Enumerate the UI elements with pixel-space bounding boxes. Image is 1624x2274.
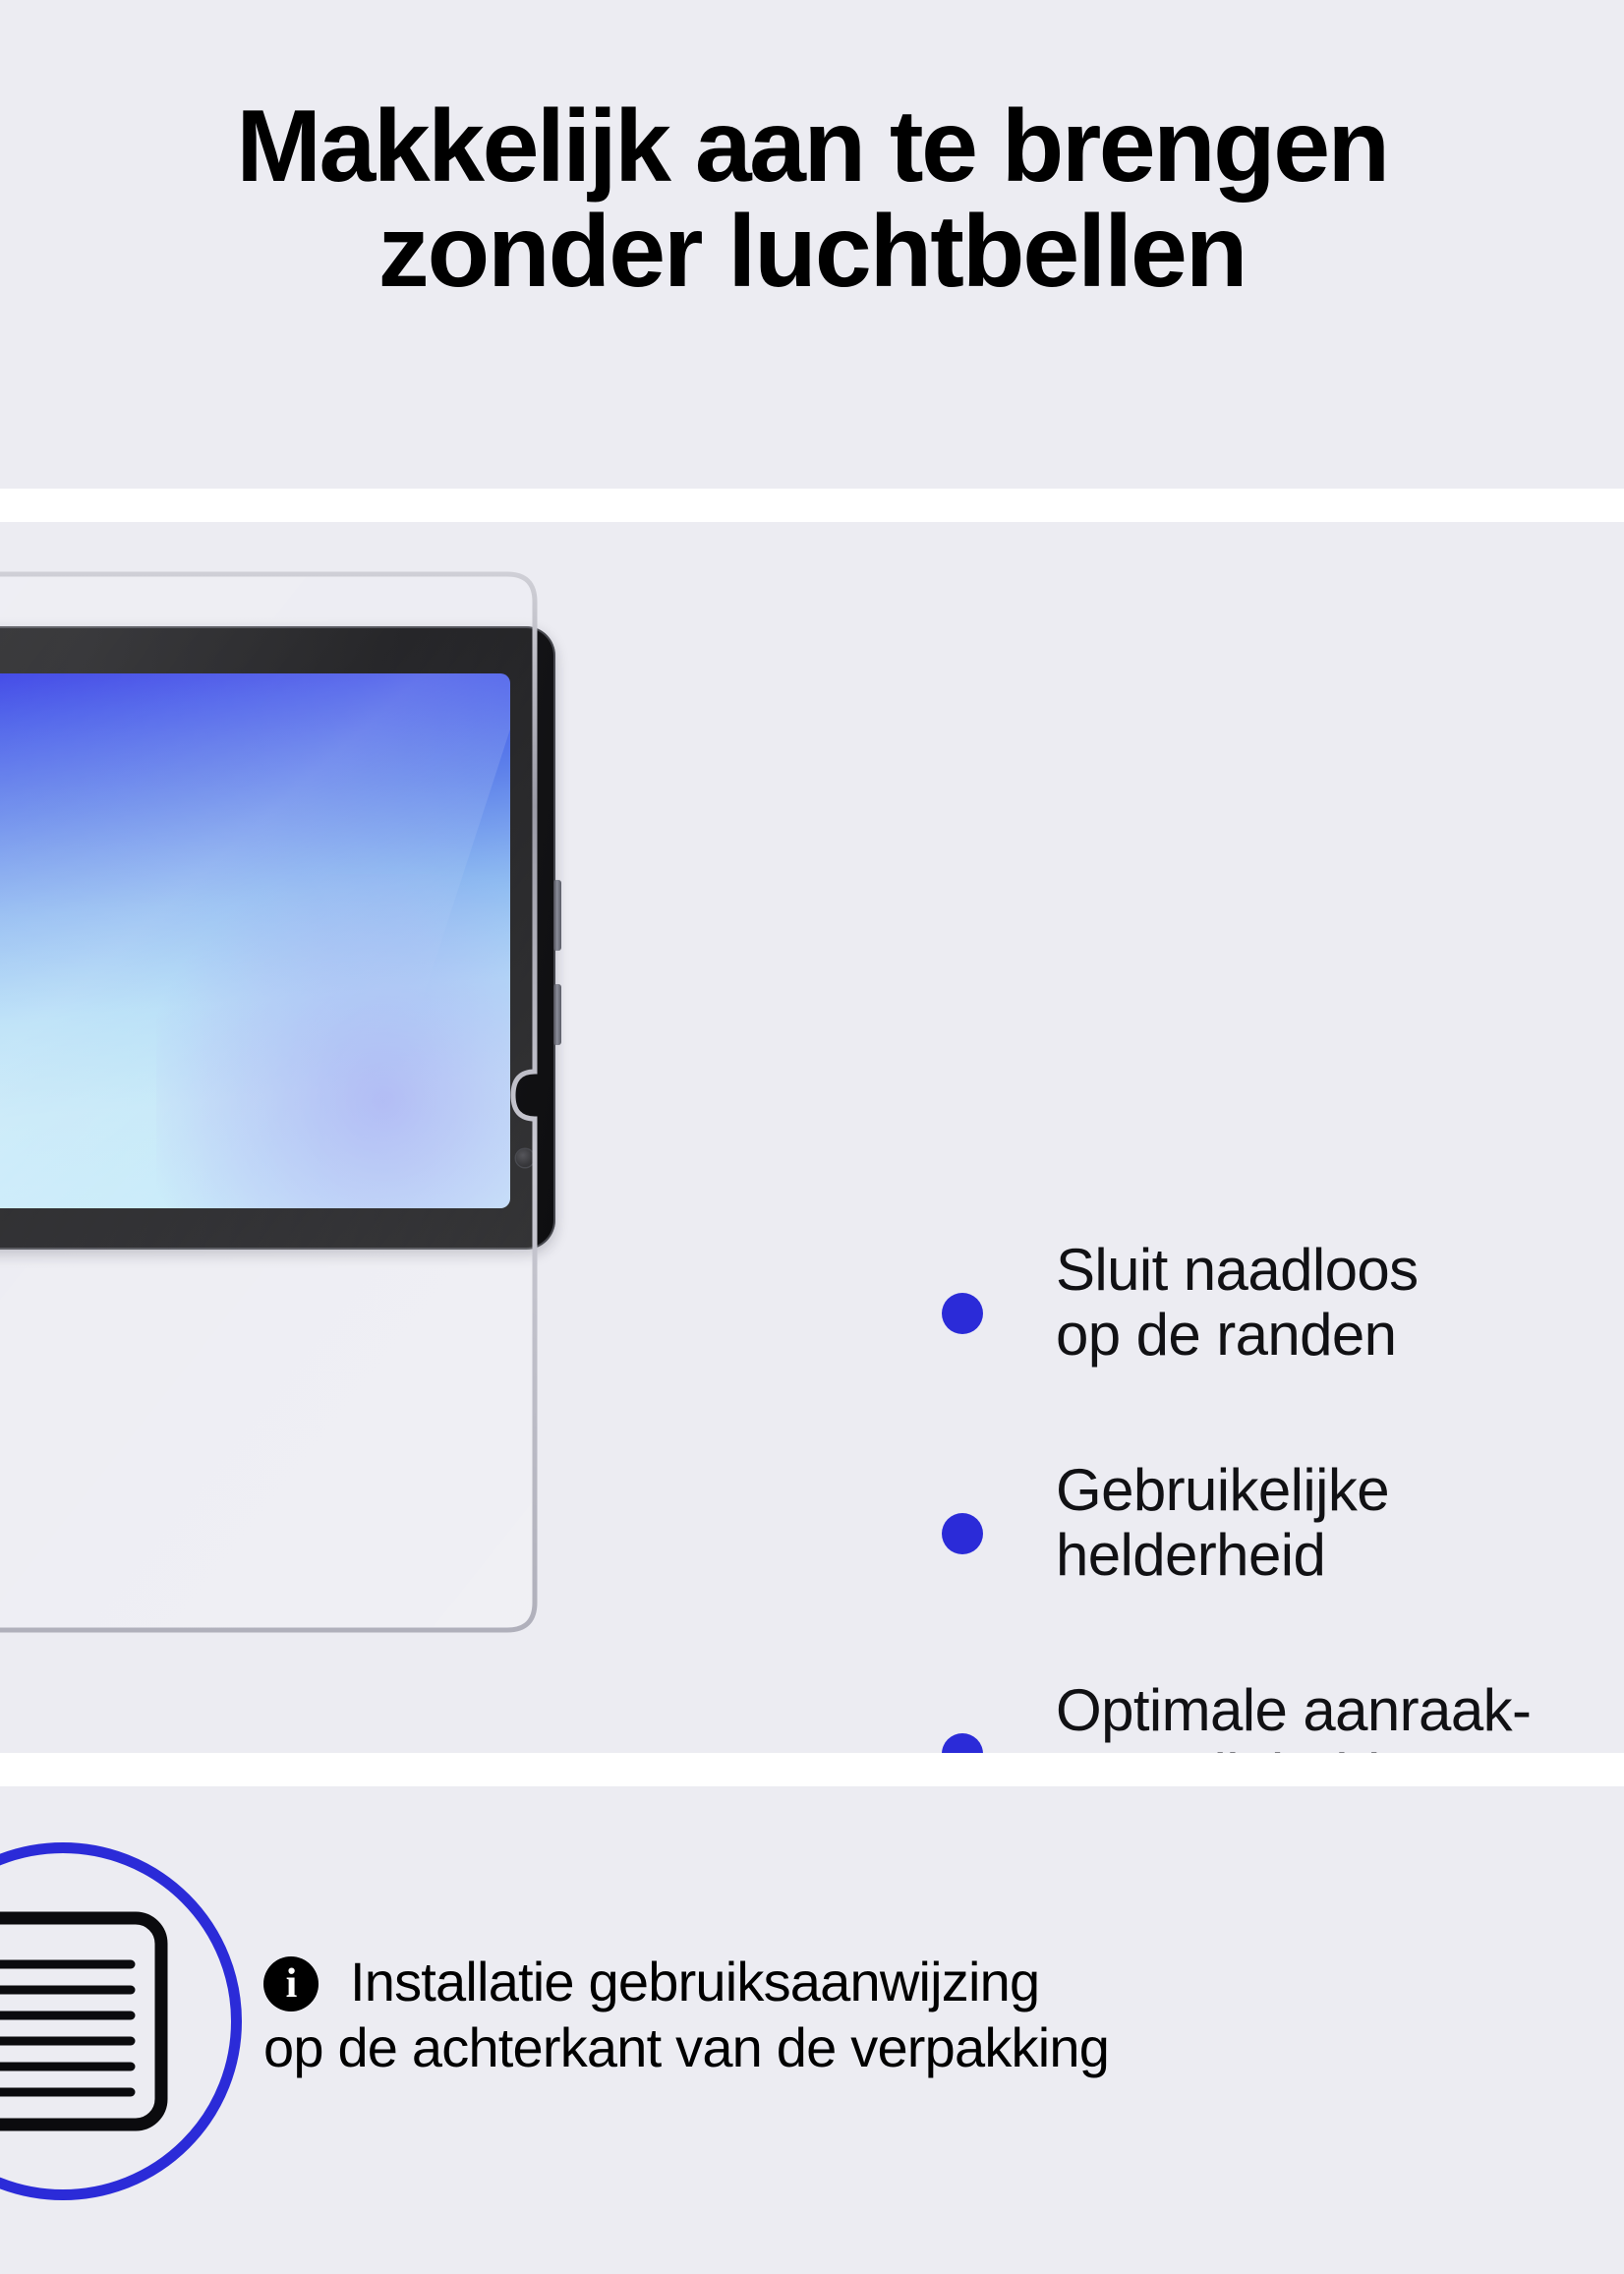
wallpaper-violet-tint [156,874,510,1208]
list-item: Sluit naadloos op de randen [942,1238,1624,1368]
tablet-device [0,626,555,1250]
feature-line-1: Optimale aanraak- [1056,1678,1624,1743]
feature-line-2: helderheid [1056,1523,1624,1588]
page-title: Makkelijk aan te brengen zonder luchtbel… [0,94,1624,305]
tablet-screen [0,673,510,1208]
hero-panel: Sluit naadloos op de randen Gebruikelijk… [0,522,1624,1753]
note-line-2: op de achterkant van de verpakking [263,2014,1624,2080]
feature-line-1: Gebruikelijke [1056,1458,1624,1523]
header-panel: Makkelijk aan te brengen zonder luchtbel… [0,0,1624,489]
list-item: Optimale aanraak- gevoeligheid [942,1678,1624,1753]
feature-line-2: gevoeligheid [1056,1743,1624,1753]
hero-stage: Sluit naadloos op de randen Gebruikelijk… [0,522,1624,1753]
feature-text: Optimale aanraak- gevoeligheid [1056,1678,1624,1753]
headline-line-1: Makkelijk aan te brengen [0,94,1624,200]
manual-document-icon [0,1911,168,2131]
product-infographic: Makkelijk aan te brengen zonder luchtbel… [0,0,1624,2274]
feature-text: Sluit naadloos op de randen [1056,1238,1624,1368]
bullet-dot-icon [942,1293,983,1334]
bullet-dot-icon [942,1513,983,1554]
note-line-1: Installatie gebruiksaanwijzing [263,1949,1624,2014]
headline-line-2: zonder luchtbellen [0,200,1624,305]
bullet-dot-icon [942,1733,983,1753]
feature-text: Gebruikelijke helderheid [1056,1458,1624,1588]
feature-list: Sluit naadloos op de randen Gebruikelijk… [942,1238,1624,1753]
feature-line-1: Sluit naadloos [1056,1238,1624,1303]
feature-line-2: op de randen [1056,1303,1624,1368]
info-icon: i [263,1956,319,2012]
wallpaper-swoosh [0,673,510,1208]
volume-button[interactable] [553,984,561,1045]
installation-note: i Installatie gebruiksaanwijzing op de a… [263,1949,1624,2080]
camera-icon [516,1149,534,1167]
list-item: Gebruikelijke helderheid [942,1458,1624,1588]
manual-badge [0,1842,242,2200]
footer-panel: i Installatie gebruiksaanwijzing op de a… [0,1786,1624,2274]
power-button[interactable] [553,880,561,951]
